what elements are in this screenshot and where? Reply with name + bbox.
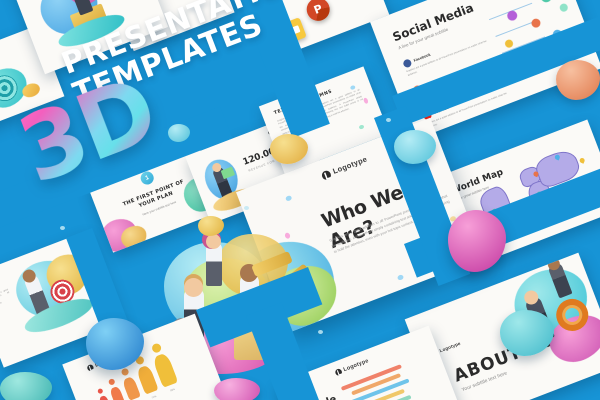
decorative-bubble xyxy=(504,38,514,48)
floating-blob xyxy=(214,378,260,400)
promo-canvas: LOREM ADIPISCING IPSUM Logotype xyxy=(0,0,600,400)
decorative-bubble xyxy=(530,17,542,29)
confetti-dot xyxy=(318,330,323,334)
confetti-dot xyxy=(244,206,249,210)
character-head xyxy=(184,278,203,297)
logotype: Logotype xyxy=(321,155,369,181)
facebook-icon xyxy=(402,58,412,68)
person-figure-icon xyxy=(99,395,111,400)
floating-blob xyxy=(198,216,224,236)
person-figure-icon xyxy=(122,376,141,400)
confetti-dot xyxy=(386,118,391,122)
map-pin[interactable] xyxy=(579,157,586,164)
powerpoint-icon[interactable]: P xyxy=(303,0,333,24)
decorative-bubble xyxy=(506,9,519,22)
floating-blob xyxy=(448,210,506,272)
step-badge-label: 1 xyxy=(145,175,150,182)
people-value: 71% xyxy=(147,393,161,400)
slide-body: Graphics are a great addition to all Pow… xyxy=(0,289,13,310)
decorative-bubble xyxy=(559,2,569,12)
person-figure-icon xyxy=(109,386,125,400)
floating-blob xyxy=(556,60,600,100)
logotype: Logotype xyxy=(334,358,369,377)
logotype-label: Logotype xyxy=(332,155,369,176)
powerpoint-letter: P xyxy=(312,2,324,17)
confetti-dot xyxy=(358,124,364,130)
confetti-dot xyxy=(350,85,356,91)
logo-mark-icon xyxy=(86,364,94,372)
floating-blob xyxy=(0,372,52,400)
logotype-label: Logotype xyxy=(439,341,462,354)
confetti-dot xyxy=(397,274,404,281)
character-head xyxy=(206,234,221,249)
confetti-dot xyxy=(285,195,292,202)
logo-mark-icon xyxy=(334,368,343,377)
confetti-dot xyxy=(60,226,65,230)
logotype-label: Logotype xyxy=(343,358,370,374)
logo-mark-icon xyxy=(321,169,333,181)
decorative-bubble xyxy=(539,0,553,4)
people-value: 89% xyxy=(165,386,181,395)
